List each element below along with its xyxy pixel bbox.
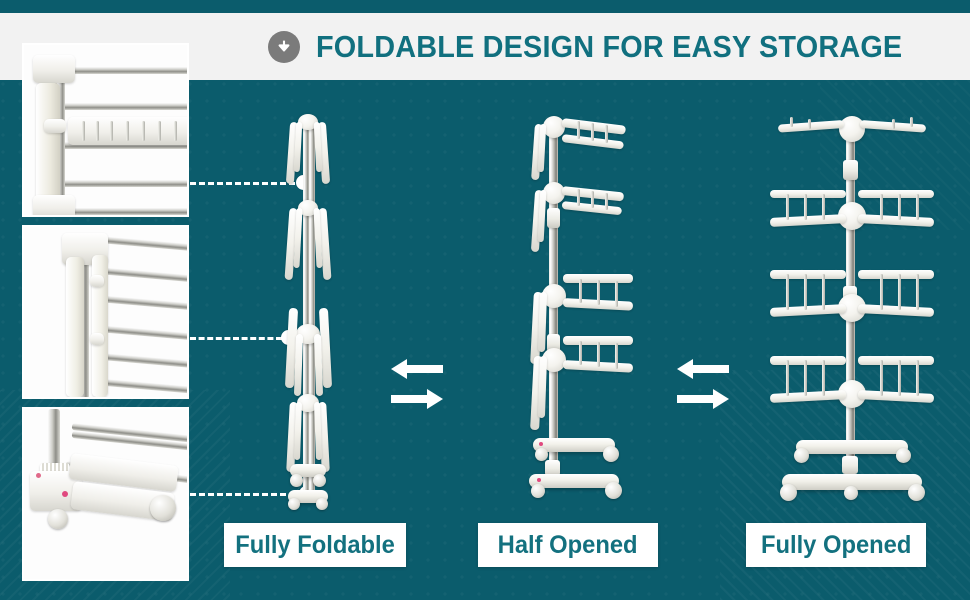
product-half-opened — [505, 108, 640, 508]
label-half-opened-text: Half Opened — [498, 531, 638, 560]
product-stage — [0, 80, 970, 600]
product-fully-opened — [760, 108, 940, 508]
product-fully-foldable — [276, 112, 338, 502]
infographic-canvas: FOLDABLE DESIGN FOR EASY STORAGE — [0, 0, 970, 600]
label-fully-foldable[interactable]: Fully Foldable — [224, 523, 406, 567]
label-fully-opened-text: Fully Opened — [761, 531, 911, 560]
label-fully-opened[interactable]: Fully Opened — [746, 523, 926, 567]
label-half-opened[interactable]: Half Opened — [478, 523, 658, 567]
page-title: FOLDABLE DESIGN FOR EASY STORAGE — [316, 29, 902, 65]
top-teal-strip — [0, 0, 970, 13]
label-fully-foldable-text: Fully Foldable — [235, 531, 395, 560]
transition-arrows-1 — [385, 355, 449, 417]
transition-arrows-2 — [671, 355, 735, 417]
download-arrow-icon — [268, 31, 300, 63]
